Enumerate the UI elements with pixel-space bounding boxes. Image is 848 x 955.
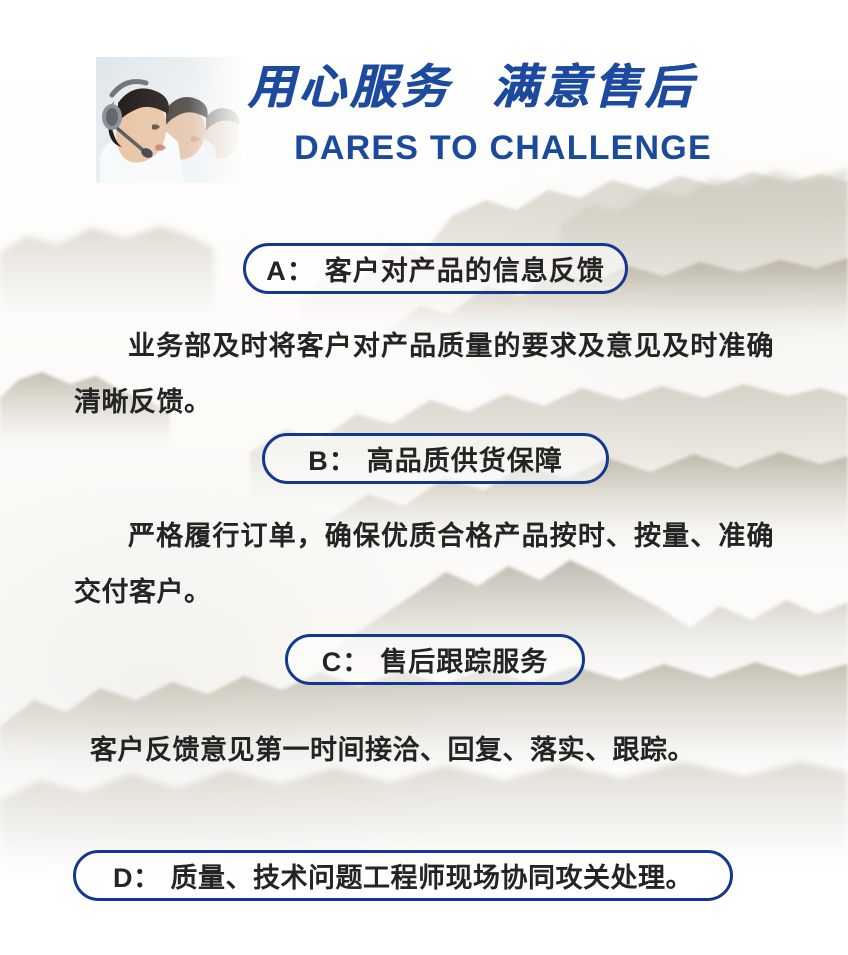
section-heading-c: C： 售后跟踪服务: [285, 634, 585, 685]
section-heading-a: A： 客户对产品的信息反馈: [243, 243, 628, 294]
section-body-c: 客户反馈意见第一时间接洽、回复、落实、跟踪。: [90, 722, 790, 778]
section-label-c: C：: [322, 640, 371, 679]
section-title-d: 质量、技术问题工程师现场协同攻关处理。: [171, 856, 694, 895]
section-label-a: A：: [266, 249, 315, 288]
customer-service-agents-photo: [96, 57, 246, 183]
section-title-b: 高品质供货保障: [367, 439, 563, 478]
page-title-chinese: 用心服务满意售后: [248, 57, 758, 119]
section-heading-d: D： 质量、技术问题工程师现场协同攻关处理。: [73, 850, 733, 901]
section-heading-b: B： 高品质供货保障: [262, 433, 609, 484]
poster-page: 用心服务满意售后 DARES TO CHALLENGE A： 客户对产品的信息反…: [0, 0, 848, 955]
section-title-c: 售后跟踪服务: [380, 640, 548, 679]
section-label-b: B：: [308, 439, 357, 478]
section-label-d: D：: [113, 856, 161, 895]
poster-header: 用心服务满意售后 DARES TO CHALLENGE: [0, 0, 848, 200]
title-chinese-part1: 用心服务: [248, 62, 452, 114]
section-title-a: 客户对产品的信息反馈: [325, 249, 605, 288]
title-chinese-part2: 满意售后: [492, 62, 696, 114]
page-subtitle-english: DARES TO CHALLENGE: [248, 126, 758, 170]
section-body-a: 业务部及时将客户对产品质量的要求及意见及时准确清晰反馈。: [74, 318, 774, 430]
section-body-b: 严格履行订单，确保优质合格产品按时、按量、准确交付客户。: [74, 508, 774, 620]
